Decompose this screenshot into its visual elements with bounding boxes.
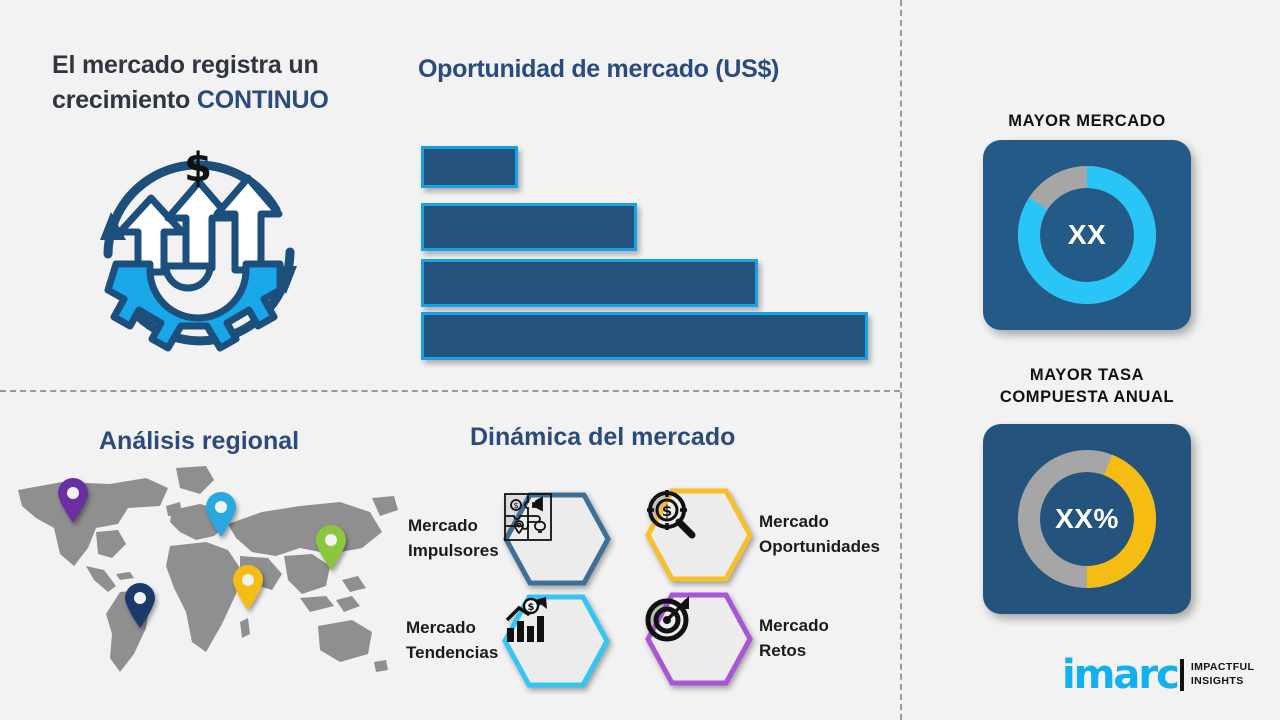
bar-0	[421, 146, 518, 188]
logo-tagline: IMPACTFUL INSIGHTS	[1191, 661, 1254, 688]
bar-row	[421, 203, 637, 251]
pin-europe[interactable]	[204, 492, 238, 538]
logo-divider	[1180, 659, 1184, 691]
hexagon-drivers: $	[503, 492, 611, 586]
regional-title: Análisis regional	[99, 427, 299, 456]
growth-title-accent: CONTINUO	[197, 86, 329, 114]
puzzle-pieces-icon: $	[503, 492, 611, 586]
dynamics-item-trends[interactable]: Mercado Tendencias $	[406, 594, 610, 688]
horizontal-divider	[0, 390, 900, 392]
hexagon-trends: $	[502, 594, 610, 688]
growth-title: El mercado registra un crecimiento CONTI…	[52, 48, 392, 117]
infographic-page: El mercado registra un crecimiento CONTI…	[0, 0, 1280, 720]
hexagon-challenges	[645, 592, 753, 686]
kpi-card-highest-cagr: XX%	[983, 424, 1191, 614]
opportunity-bar-chart	[421, 146, 881, 351]
kpi-card-largest-market: XX	[983, 140, 1191, 330]
bar-chart-growth-icon: $	[502, 594, 610, 688]
dynamics-item-opportunities[interactable]: $ Mercado Oportunidades	[645, 488, 880, 582]
dynamics-item-drivers[interactable]: Mercado Impulsores $	[408, 492, 611, 586]
kpi-label-largest-market: MAYOR MERCADO	[957, 110, 1217, 132]
imarc-logo: imarc IMPACTFUL INSIGHTS	[1062, 655, 1254, 695]
growth-title-line1: El mercado registra un	[52, 51, 319, 79]
svg-text:$: $	[528, 602, 535, 613]
svg-text:$: $	[513, 501, 518, 510]
growth-gear-arrows-icon: $	[78, 136, 318, 368]
bar-1	[421, 203, 637, 251]
bar-3	[421, 312, 868, 360]
kpi-value-highest-cagr: XX%	[983, 424, 1191, 614]
hexagon-opportunities: $	[645, 488, 753, 582]
dynamics-label-trends: Mercado Tendencias	[406, 616, 498, 665]
logo-wordmark: imarc	[1062, 655, 1178, 695]
kpi-value-largest-market: XX	[983, 140, 1191, 330]
opportunity-title: Oportunidad de mercado (US$)	[418, 55, 779, 84]
dynamics-item-challenges[interactable]: Mercado Retos	[645, 592, 829, 686]
magnifier-dollar-icon: $	[645, 488, 753, 582]
pin-east-asia[interactable]	[314, 525, 348, 571]
svg-text:$: $	[184, 145, 212, 191]
bar-row	[421, 259, 758, 307]
pin-africa-middle-east[interactable]	[231, 565, 265, 611]
target-arrow-icon	[645, 592, 753, 686]
dynamics-label-challenges: Mercado Retos	[759, 614, 829, 663]
dynamics-label-opportunities: Mercado Oportunidades	[759, 510, 880, 559]
growth-title-line2: crecimiento	[52, 86, 197, 114]
vertical-divider	[900, 0, 902, 720]
bar-2	[421, 259, 758, 307]
pin-north-america[interactable]	[56, 478, 90, 524]
bar-row	[421, 312, 868, 360]
bar-row	[421, 146, 518, 188]
dynamics-label-drivers: Mercado Impulsores	[408, 514, 499, 563]
svg-text:$: $	[662, 502, 672, 520]
pin-south-america[interactable]	[123, 583, 157, 629]
dynamics-title: Dinámica del mercado	[470, 423, 735, 452]
kpi-label-highest-cagr: MAYOR TASA COMPUESTA ANUAL	[957, 364, 1217, 409]
